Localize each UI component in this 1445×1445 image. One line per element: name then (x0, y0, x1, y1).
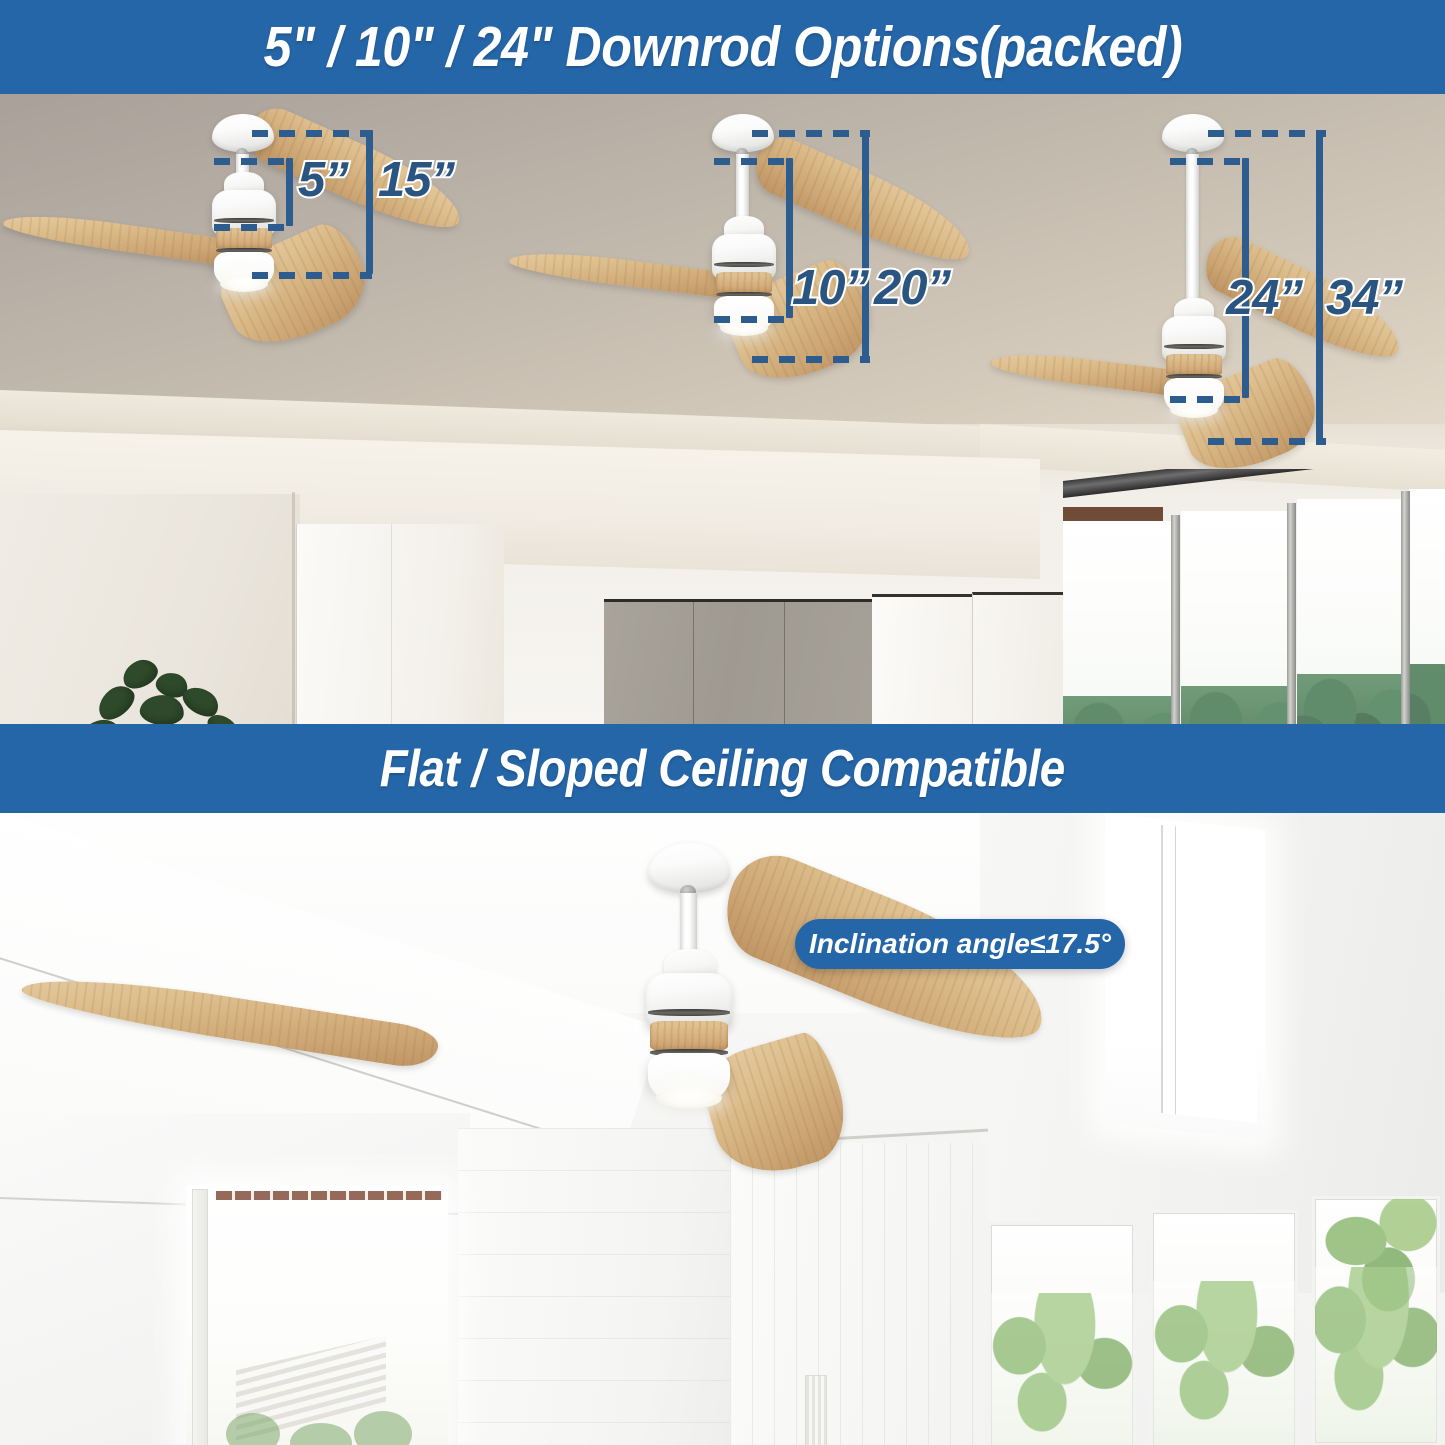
dim-guide-rod-bot (1170, 396, 1248, 403)
door-head-track (1063, 469, 1445, 498)
wood-accent-band (716, 272, 772, 294)
open-window (186, 1185, 448, 1445)
motor-trim-ring (714, 262, 774, 267)
wood-accent-band (216, 228, 272, 250)
tall-white-cabinet-left (296, 524, 504, 724)
dim-guide-bottom (252, 272, 372, 279)
dim-label-total: 20” (874, 260, 950, 316)
header-banner: 5" / 10" / 24" Downrod Options(packed) (0, 0, 1445, 94)
sloped-ceiling-scene: Inclination angle≤17.5° (0, 813, 1445, 1445)
section-banner: Flat / Sloped Ceiling Compatible (0, 724, 1445, 813)
glass-panel (1297, 499, 1401, 724)
door-mullion (1401, 491, 1410, 724)
dim-guide-rod-bot (714, 316, 792, 323)
dim-arrow-downrod (286, 158, 293, 226)
downrod-options-scene: 5” 15” 10” 20” (0, 94, 1445, 724)
tall-white-cabinet-far-right (972, 592, 1068, 724)
upper-taupe-cabinets (604, 599, 872, 724)
potted-plant (78, 659, 253, 724)
glass-panel (1181, 511, 1289, 724)
vertical-radiator (805, 1375, 827, 1445)
tall-window (1105, 813, 1265, 1140)
dim-guide-bottom (1208, 438, 1326, 445)
sliding-glass-doors (1063, 469, 1445, 724)
dim-label-downrod: 5” (298, 152, 348, 208)
door-mullion (1171, 515, 1180, 724)
dim-guide-top (1208, 130, 1326, 137)
dim-guide-rod-top (214, 158, 292, 165)
tall-white-cabinet-right (872, 594, 972, 724)
product-infographic: 5” 15” 10” 20” (0, 0, 1445, 1445)
door-mullion (1287, 503, 1296, 724)
downrod (680, 893, 697, 955)
inclination-angle-badge: Inclination angle≤17.5° (795, 919, 1125, 969)
dim-guide-top (252, 130, 372, 137)
dim-arrow-total (1316, 130, 1323, 440)
dim-label-downrod: 24” (1226, 270, 1302, 326)
panelled-wall (730, 1143, 988, 1445)
dim-arrow-total (862, 130, 869, 358)
door-glass-pane (1150, 1210, 1298, 1445)
dim-label-total: 15” (378, 152, 454, 208)
ceiling-fan-10-inch (690, 112, 990, 372)
downrod (1186, 154, 1199, 304)
motor-trim-ring (1164, 344, 1224, 349)
dim-label-downrod: 10” (792, 260, 868, 316)
dim-guide-bottom (752, 356, 870, 363)
dim-guide-top (752, 130, 870, 137)
motor-trim-ring (214, 218, 274, 223)
wall-corner (292, 492, 295, 724)
header-banner-title: 5" / 10" / 24" Downrod Options(packed) (263, 14, 1182, 80)
wood-accent-band (1166, 354, 1222, 376)
ceiling-fan-sloped-install (330, 825, 1030, 1145)
dim-label-total: 34” (1326, 270, 1402, 326)
chimney-breast (458, 1128, 730, 1445)
door-glass-pane (988, 1222, 1136, 1445)
dim-guide-rod-top (714, 158, 792, 165)
dim-guide-rod-top (1170, 158, 1248, 165)
led-lens (1170, 402, 1218, 418)
section-banner-title: Flat / Sloped Ceiling Compatible (380, 739, 1065, 799)
french-doors (980, 1208, 1445, 1445)
inclination-angle-label: Inclination angle≤17.5° (809, 928, 1111, 960)
dim-arrow-total (366, 130, 373, 274)
dim-guide-rod-bot (214, 224, 292, 231)
glass-panel (1063, 521, 1173, 724)
glass-panel (1409, 489, 1445, 724)
door-glass-pane (1312, 1196, 1440, 1445)
motor-trim-ring (648, 1009, 730, 1016)
led-lens (656, 1087, 722, 1109)
wood-accent-band (650, 1021, 728, 1051)
